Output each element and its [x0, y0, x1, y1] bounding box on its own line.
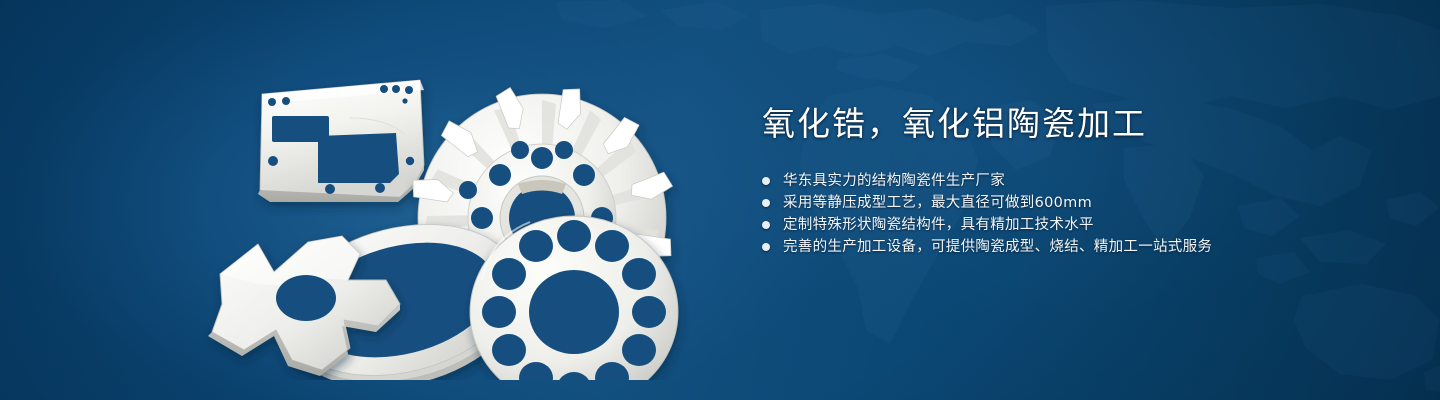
bullet-dot-icon [762, 221, 770, 229]
ceramic-plate-part [258, 80, 424, 202]
list-item-label: 采用等静压成型工艺，最大直径可做到600mm [783, 192, 1092, 214]
list-item: 采用等静压成型工艺，最大直径可做到600mm [762, 192, 1382, 214]
list-item: 完善的生产加工设备，可提供陶瓷成型、烧结、精加工一站式服务 [762, 236, 1382, 258]
bullet-dot-icon [762, 243, 770, 251]
page-title: 氧化锆，氧化铝陶瓷加工 [762, 104, 1382, 144]
banner-text-block: 氧化锆，氧化铝陶瓷加工 华东具实力的结构陶瓷件生产厂家 采用等静压成型工艺，最大… [762, 104, 1382, 258]
list-item-label: 定制特殊形状陶瓷结构件，具有精加工技术水平 [783, 214, 1094, 236]
list-item-label: 完善的生产加工设备，可提供陶瓷成型、烧结、精加工一站式服务 [783, 236, 1212, 258]
hero-banner: 氧化锆，氧化铝陶瓷加工 华东具实力的结构陶瓷件生产厂家 采用等静压成型工艺，最大… [0, 0, 1440, 400]
bullet-dot-icon [762, 199, 770, 207]
bullet-dot-icon [762, 177, 770, 185]
list-item: 定制特殊形状陶瓷结构件，具有精加工技术水平 [762, 214, 1382, 236]
list-item: 华东具实力的结构陶瓷件生产厂家 [762, 170, 1382, 192]
feature-list: 华东具实力的结构陶瓷件生产厂家 采用等静压成型工艺，最大直径可做到600mm 定… [762, 170, 1382, 258]
list-item-label: 华东具实力的结构陶瓷件生产厂家 [783, 170, 1005, 192]
ceramic-parts-image [200, 30, 690, 380]
